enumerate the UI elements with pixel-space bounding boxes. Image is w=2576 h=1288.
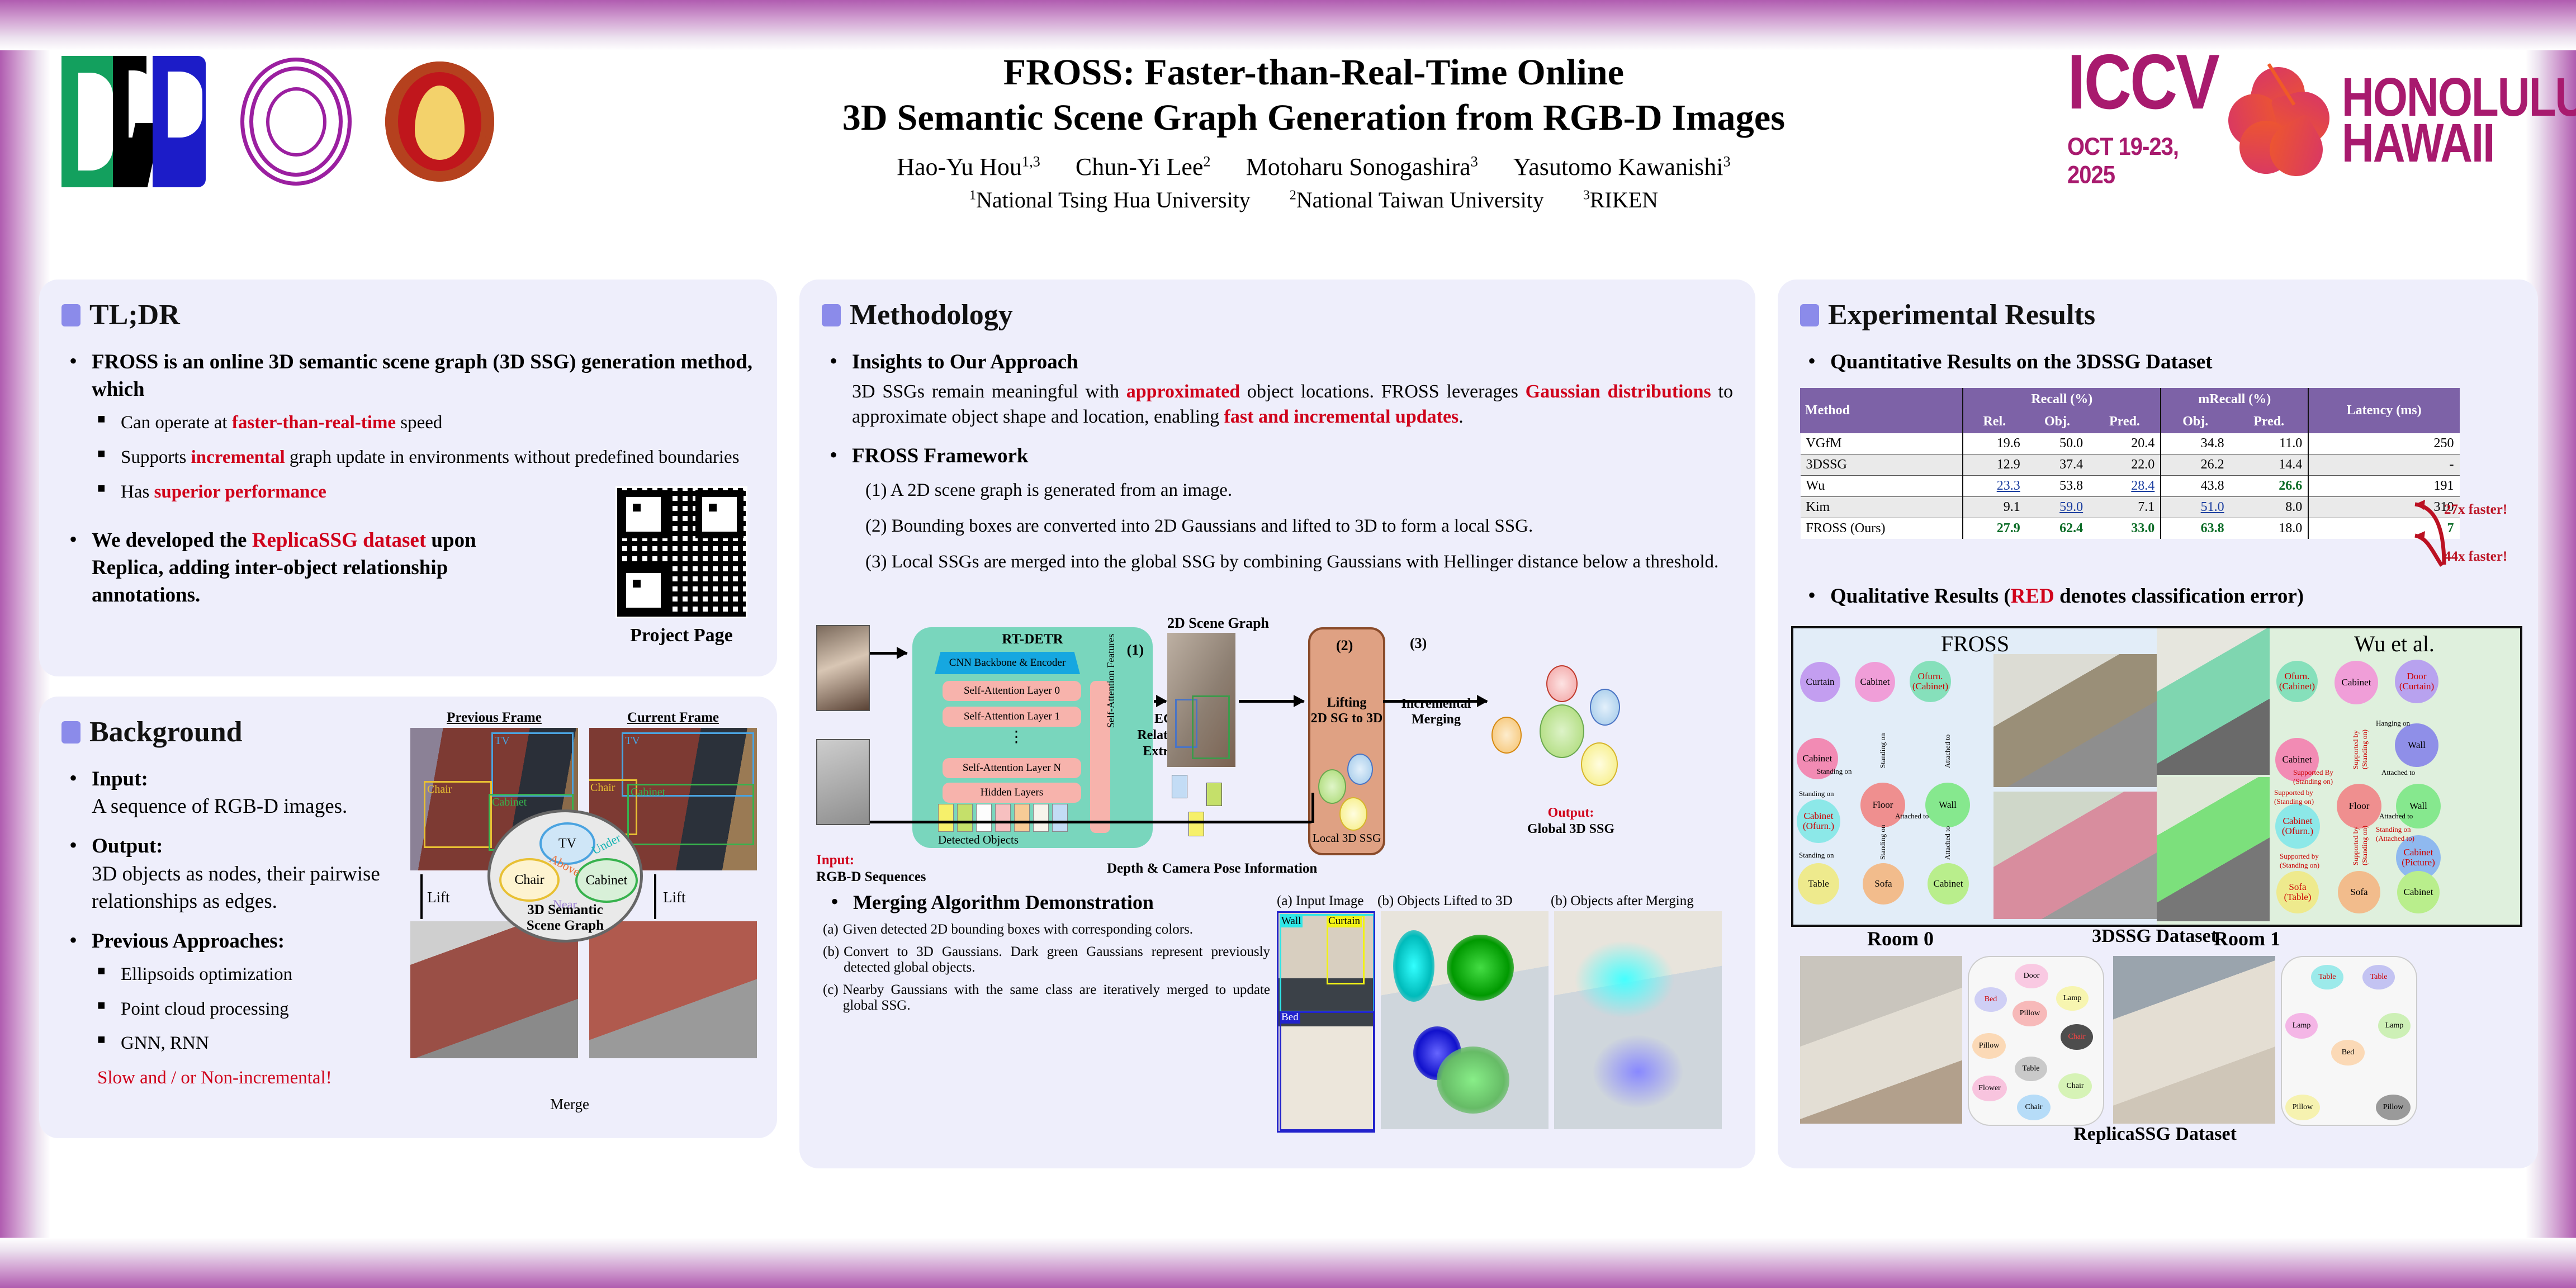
qnode-cabinet: Cabinet (1855, 662, 1895, 702)
merging-item: (c) Nearby Gaussians with the same class… (823, 982, 1270, 1014)
gn-pillow-2: Pillow (1972, 1033, 2006, 1059)
qual-wu-render-bottom (2157, 777, 2270, 921)
replicassg-figure: Room 0 Room 1 Door Bed Lamp Pillow Chair… (1800, 956, 2510, 1124)
qnode-wu-cabinet-ofurn: Cabinet(Ofurn.) (2275, 804, 2320, 849)
methodology-panel: Methodology Insights to Our Approach 3D … (799, 280, 1755, 1168)
qnode-wu-sofa-table: Sofa(Table) (2276, 871, 2319, 913)
arrow-lifting-to-global (1383, 700, 1487, 703)
hibiscus-flower-icon (2228, 67, 2332, 173)
detected-objects-label: Detected Objects (938, 833, 1019, 847)
col-mobj: Obj. (2161, 411, 2229, 433)
qual-right-title: Wu et al. (2269, 631, 2520, 657)
lifting-block: (2) Lifting 2D SG to 3D Local 3D SSG (1308, 627, 1385, 855)
poster-root: FROSS: Faster-than-Real-Time Online 3D S… (0, 0, 2576, 1288)
methodology-heading: Methodology (822, 299, 1733, 332)
qedge-wu-attached-to: Attached to (2381, 768, 2415, 777)
qnode-ofurn: Ofurn.(Cabinet) (1910, 661, 1951, 702)
qnode-curtain: Curtain (1800, 662, 1840, 702)
qedge-wu-attached-to-2: Attached to (2379, 812, 2413, 821)
arrow-egtr-to-sg (1154, 700, 1166, 703)
pipeline-input-label: Input: RGB-D Sequences (816, 852, 926, 885)
gn-table: Table (2015, 1057, 2047, 1081)
list-item: Ellipsoids optimization (92, 963, 419, 987)
author: Motoharu Sonogashira3 (1246, 153, 1478, 181)
tldr-panel: TL;DR FROSS is an online 3D semantic sce… (39, 280, 777, 676)
qnode-table: Table (1798, 863, 1839, 905)
national-taiwan-university-seal-icon (385, 61, 494, 182)
list-item: FROSS Framework (1) A 2D scene graph is … (822, 442, 1733, 575)
speed-arrows-icon (2409, 492, 2454, 576)
qr-code-icon[interactable] (615, 486, 747, 618)
col-latency: Latency (ms) (2308, 389, 2459, 433)
self-attention-layer-n: Self-Attention Layer N (943, 758, 1081, 778)
gn-chair: Chair (2061, 1024, 2093, 1050)
qedge-wu-supported-by: Supported by(Standing on) (2351, 730, 2369, 769)
detected-object-swatches (938, 804, 1068, 832)
self-attention-layer-0: Self-Attention Layer 0 (943, 681, 1081, 701)
qnode-wu-sofa: Sofa (2338, 871, 2380, 913)
qnode-wu-wall-2: Wall (2396, 784, 2441, 828)
col-mpred: Pred. (2230, 411, 2309, 433)
page-title-line1: FROSS: Faster-than-Real-Time Online (727, 50, 1901, 96)
merge-input-image: Wall Curtain Bed (1277, 911, 1375, 1133)
list-item: Qualitative Results (RED denotes classif… (1800, 583, 2304, 610)
gn1-pillow: Pillow (2285, 1095, 2320, 1120)
room1-photo (2113, 956, 2275, 1124)
list-item: GNN, RNN (92, 1031, 419, 1056)
global-3d-ssg-graph (1491, 665, 1648, 794)
ssg-title-l1: 3D Semantic (527, 902, 603, 917)
section-marker-square-icon (61, 304, 80, 326)
depth-input-stack (816, 739, 870, 825)
qnode-wall: Wall (1925, 783, 1970, 827)
iccv-date: OCT 19-23, 2025 (2067, 133, 2218, 190)
curr-frame-label: Current Frame (589, 710, 757, 726)
global-node-orange (1491, 717, 1522, 754)
tsing-hua-university-seal-icon (240, 58, 352, 186)
step-tag-2: (2) (1336, 637, 1353, 654)
page-title-line2: 3D Semantic Scene Graph Generation from … (727, 96, 1901, 141)
qedge-standing-on-5: Standing on (1878, 825, 1887, 860)
qual-left-title: FROSS (1793, 631, 2157, 657)
list-item: Insights to Our Approach 3D SSGs remain … (822, 348, 1733, 430)
qedge-standing-on: Standing on (1878, 733, 1887, 768)
experimental-heading: Experimental Results (1800, 299, 2516, 332)
depth-pose-line (870, 821, 1311, 823)
pipeline-output-label: Output: Global 3D SSG (1493, 805, 1649, 837)
list-item: FROSS is an online 3D semantic scene gra… (61, 348, 755, 504)
background-warning: Slow and / or Non-incremental! (97, 1066, 419, 1091)
lift-label-left: Lift (427, 889, 450, 906)
background-panel: Background Input:A sequence of RGB-D ima… (39, 697, 777, 1138)
tldr-heading: TL;DR (61, 299, 755, 332)
qnode-wu-cabinet-3: Cabinet (2397, 871, 2440, 913)
depth-pose-label: Depth & Camera Pose Information (1107, 861, 1317, 877)
gn-chair-2: Chair (2058, 1073, 2092, 1099)
global-node-yellow (1581, 742, 1618, 786)
qedge-attached-to-3: Attached to (1943, 826, 1952, 860)
arrow-sg-to-lifting (1239, 700, 1304, 703)
step-tag-1: (1) (1127, 642, 1144, 659)
qedge-wu-hanging-on: Hanging on (2376, 719, 2410, 728)
cnn-backbone-block: CNN Backbone & Encoder (935, 652, 1080, 674)
qnode-cabinet-3: Cabinet (1928, 863, 1969, 905)
local-node-blue (1347, 754, 1373, 785)
gn-chair-3: Chair (2017, 1095, 2051, 1120)
hidden-layers-block: Hidden Layers (943, 783, 1081, 803)
gn-bed: Bed (1974, 987, 2007, 1012)
qedge-wu-supported-by-4: Supported by(Standing on) (2280, 852, 2319, 870)
table-row: Wu 23.3 53.8 28.4 43.8 26.6 191 (1801, 476, 2460, 497)
project-page-qr[interactable]: Project Page (612, 486, 751, 646)
qualitative-figure: FROSS Curtain Cabinet Ofurn.(Cabinet) Ca… (1791, 626, 2522, 927)
poster-header: FROSS: Faster-than-Real-Time Online 3D S… (0, 34, 2576, 268)
background-figure: Previous Frame Current Frame TV Chair Ca… (410, 710, 763, 1124)
gn1-table: Table (2311, 965, 2343, 989)
ssg-title-l2: Scene Graph (527, 918, 604, 933)
author: Chun-Yi Lee2 (1076, 153, 1211, 181)
qnode-wu-ofurn: Ofurn.(Cabinet) (2276, 661, 2318, 702)
scene-graph-2d-image (1167, 633, 1235, 767)
gn-pillow: Pillow (2012, 1001, 2047, 1026)
edge-under: Under (589, 831, 623, 858)
bbox-cabinet: Cabinet (627, 784, 754, 845)
qr-caption: Project Page (612, 625, 751, 646)
merging-text: Merging Algorithm Demonstration (a) Give… (823, 889, 1270, 1014)
affiliation: 1National Tsing Hua University (969, 187, 1251, 212)
gn-door: Door (2015, 964, 2048, 988)
title-block: FROSS: Faster-than-Real-Time Online 3D S… (727, 50, 1901, 213)
lifted-cloud-right (589, 921, 757, 1058)
author-list: Hao-Yu Hou1,3 Chun-Yi Lee2 Motoharu Sono… (727, 153, 1901, 181)
insights-paragraph: 3D SSGs remain meaningful with approxima… (852, 379, 1733, 429)
col-rel: Rel. (1963, 411, 2025, 433)
bbox-chair: Chair (424, 781, 492, 848)
col-pred: Pred. (2089, 411, 2161, 433)
list-item: We developed the ReplicaSSG dataset upon… (61, 527, 533, 609)
qedge-wu-supported-by-3: Supported by(Standing on) (2274, 788, 2314, 806)
merge-label: Merge (550, 1096, 589, 1113)
table-row: VGfM 19.6 50.0 20.4 34.8 11.0 250 (1801, 433, 2460, 454)
table-row: 3DSSG 12.9 37.4 22.0 26.2 14.4 - (1801, 454, 2460, 476)
gn-flower: Flower (1972, 1076, 2007, 1101)
qedge-attached-to: Attached to (1943, 735, 1952, 768)
affiliation: 2National Taiwan University (1290, 187, 1544, 212)
step-tag-3: (3) (1410, 635, 1427, 652)
qual-wu-render-top (2157, 628, 2270, 775)
scene-graph-2d-label: 2D Scene Graph (1167, 615, 1269, 632)
scene-graph-2d-nodes (1172, 775, 1233, 836)
framework-step: (2) Bounding boxes are converted into 2D… (865, 514, 1733, 539)
qnode-wu-door: Door(Curtain) (2395, 660, 2438, 703)
section-marker-square-icon (822, 304, 841, 326)
gn1-bed: Bed (2331, 1040, 2365, 1066)
qedge-standing-on-4: Standing on (1799, 851, 1834, 860)
list-item: Merging Algorithm Demonstration (823, 889, 1270, 916)
local-node-yellow (1339, 797, 1367, 831)
qedge-wu-supported-by-5: Supported by(Standing on) (2351, 826, 2369, 865)
global-node-blue (1590, 689, 1620, 726)
qedge-standing-on-2: Standing on (1817, 767, 1851, 776)
background-text: Input:A sequence of RGB-D images. Output… (61, 765, 419, 1091)
group-mrecall: mRecall (%) (2161, 389, 2308, 411)
qnode-wu-floor: Floor (2337, 784, 2381, 828)
logo-row (61, 56, 494, 187)
author: Yasutomo Kawanishi3 (1513, 153, 1731, 181)
list-item: Output:3D objects as nodes, their pairwi… (61, 832, 419, 915)
qual-fross-render-bottom (1993, 792, 2157, 919)
node-cabinet: Cabinet (575, 858, 638, 903)
gn-lamp: Lamp (2056, 986, 2089, 1011)
left-column: TL;DR FROSS is an online 3D semantic sce… (39, 280, 777, 1138)
section-marker-square-icon (61, 721, 80, 744)
fig-caption-replica: ReplicaSSG Dataset (1800, 1124, 2510, 1145)
qnode-cabinet-ofurn: Cabinet(Ofurn.) (1797, 799, 1840, 843)
qedge-attached-to-2: Attached to (1895, 812, 1929, 821)
rt-detr-box: RT-DETR (1) CNN Backbone & Encoder Self-… (912, 627, 1153, 848)
qedge-wu-supported-by-2: Supported By(Standing on) (2293, 768, 2333, 786)
qnode-sofa: Sofa (1863, 863, 1904, 905)
author: Hao-Yu Hou1,3 (897, 153, 1040, 181)
merging-item: (b) Convert to 3D Gaussians. Dark green … (823, 944, 1270, 976)
merge-demo-figure: (a) Input Image (b) Objects Lifted to 3D… (1277, 893, 1741, 1145)
self-attention-features-bar: Self-Attention Features (1090, 681, 1110, 833)
table-row: FROSS (Ours) 27.9 62.4 33.0 63.8 18.0 7 (1801, 518, 2460, 539)
qnode-wu-wall: Wall (2395, 723, 2438, 767)
prev-frame-label: Previous Frame (410, 710, 578, 726)
global-node-red (1546, 665, 1578, 702)
room0-graph: Door Bed Lamp Pillow Chair Pillow Table … (1968, 956, 2104, 1126)
local-node-green (1318, 769, 1346, 804)
qedge-standing-on-3: Standing on (1799, 789, 1834, 798)
middle-column: Methodology Insights to Our Approach 3D … (799, 280, 1755, 1168)
bbox-tv: TV (491, 732, 574, 797)
iccv-wordmark: ICCV (2067, 46, 2218, 119)
qnode-wu-cabinet: Cabinet (2334, 661, 2378, 704)
gn1-pillow-2: Pillow (2376, 1095, 2411, 1120)
framework-step: (1) A 2D scene graph is generated from a… (865, 479, 1733, 503)
gn1-lamp-2: Lamp (2378, 1013, 2411, 1039)
lifting-label: Lifting 2D SG to 3D (1310, 695, 1383, 726)
affiliation: 3RIKEN (1583, 187, 1658, 212)
merge-demo-captions: (a) Input Image (b) Objects Lifted to 3D… (1277, 893, 1741, 909)
results-table: Method Recall (%) mRecall (%) Latency (m… (1800, 388, 2460, 539)
list-item: Can operate at faster-than-real-time spe… (92, 411, 755, 435)
table-group-header-row: Method Recall (%) mRecall (%) Latency (m… (1801, 389, 2460, 411)
qual-fross-render-top (1993, 654, 2157, 787)
col-method: Method (1801, 389, 1963, 433)
qedge-wu-standing-on: Standing on(Attached to) (2376, 825, 2414, 843)
rgb-input-stack (816, 625, 870, 711)
right-column: Experimental Results Quantitative Result… (1778, 280, 2538, 1168)
list-item: Supports incremental graph update in env… (92, 446, 755, 470)
merging-item: (a) Given detected 2D bounding boxes wit… (823, 922, 1270, 937)
affiliation-list: 1National Tsing Hua University 2National… (727, 187, 1901, 213)
global-node-green (1540, 704, 1584, 758)
iccv-conference-logo: ICCV OCT 19-23, 2025 HONOLULU HAWAII (2067, 56, 2509, 184)
iccv-city-line2: HAWAII (2342, 115, 2576, 171)
list-item: Input:A sequence of RGB-D images. (61, 765, 419, 820)
framework-step: (3) Local SSGs are merged into the globa… (865, 550, 1733, 575)
room0-label: Room 0 (1867, 927, 1934, 950)
ssg-summary-circle: TV Chair Cabinet Under Above Near 3D Sem… (487, 809, 643, 943)
self-attention-layer-1: Self-Attention Layer 1 (943, 707, 1081, 727)
ellipsis-icon: ⋮ (1008, 733, 1024, 741)
table-row: Kim 9.1 59.0 7.1 51.0 8.0 310 (1801, 497, 2460, 518)
gn1-lamp: Lamp (2285, 1013, 2318, 1039)
list-item: Point cloud processing (92, 997, 419, 1022)
experimental-results-panel: Experimental Results Quantitative Result… (1778, 280, 2538, 1168)
lift-label-right: Lift (663, 889, 686, 906)
section-marker-square-icon (1800, 304, 1819, 326)
group-recall: Recall (%) (1963, 389, 2161, 411)
list-item: Quantitative Results on the 3DSSG Datase… (1800, 348, 2516, 376)
qualitative-fross-half: FROSS Curtain Cabinet Ofurn.(Cabinet) Ca… (1793, 628, 2157, 925)
arrow-input-to-rtdetr (870, 652, 907, 655)
objects-lifted-image (1381, 911, 1549, 1129)
col-obj: Obj. (2026, 411, 2089, 433)
local-3d-ssg-label: Local 3D SSG (1310, 831, 1383, 845)
lifted-cloud-left (410, 921, 578, 1058)
qnode-floor: Floor (1860, 783, 1905, 827)
objects-merged-image: Merge Merge Merge (1554, 911, 1722, 1129)
room0-photo (1800, 956, 1962, 1124)
gn1-table-2: Table (2362, 965, 2395, 989)
list-item: Previous Approaches: Ellipsoids optimiza… (61, 927, 419, 1091)
pipeline-diagram: Input: RGB-D Sequences RT-DETR (1) CNN B… (816, 615, 1739, 878)
room1-graph: Table Table Lamp Lamp Bed Pillow Pillow (2281, 956, 2417, 1126)
qualitative-wu-half: Wu et al. Ofurn.(Cabinet) Cabinet Door(C… (2157, 628, 2520, 925)
grp-logo (61, 56, 207, 187)
room1-label: Room 1 (2214, 927, 2280, 950)
